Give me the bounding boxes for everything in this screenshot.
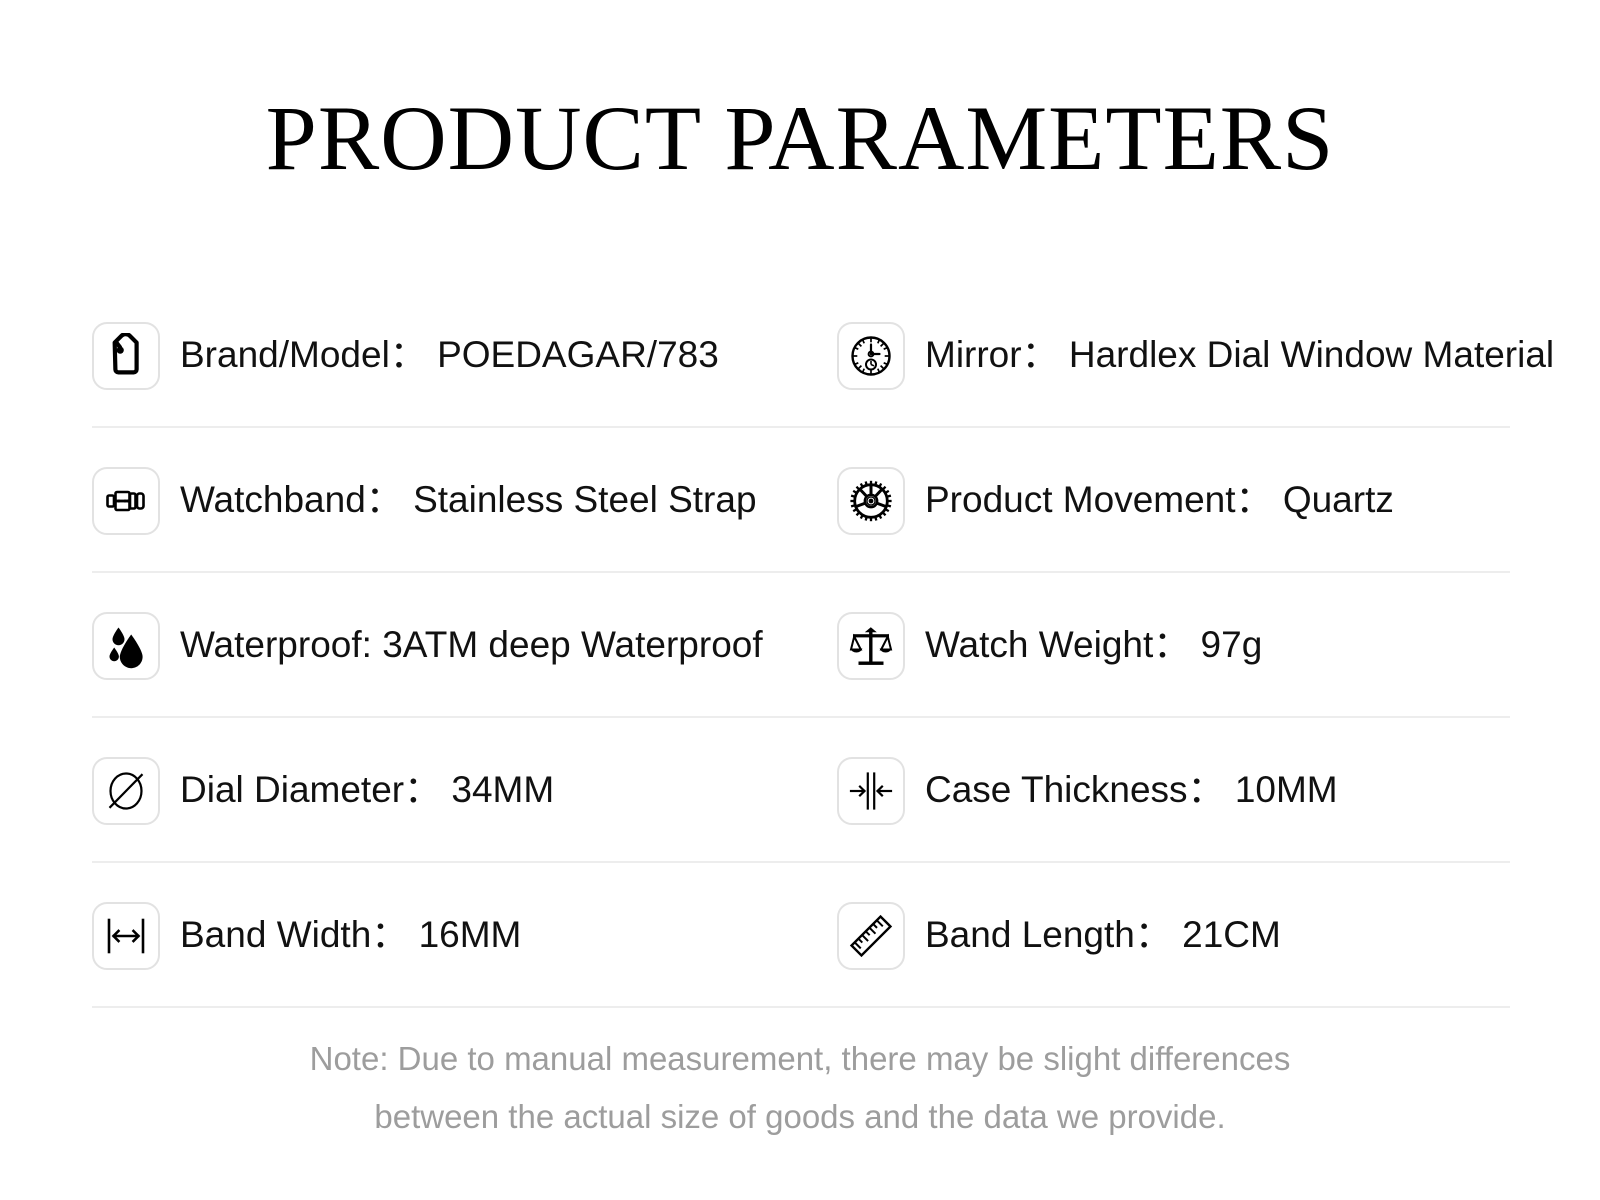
width-arrow-icon (92, 902, 160, 970)
spec-item: Case Thickness： 10MM (837, 718, 1510, 863)
spec-label: Watch Weight： (925, 624, 1190, 665)
spec-label: Band Length： (925, 914, 1172, 955)
spec-item: Watchband： Stainless Steel Strap (92, 428, 837, 573)
ruler-icon (837, 902, 905, 970)
page-title: PRODUCT PARAMETERS (0, 92, 1600, 184)
spec-table: Brand/Model： POEDAGAR/783 (92, 283, 1510, 1008)
spec-value: Stainless Steel Strap (413, 479, 756, 520)
spec-label: Band Width： (180, 914, 408, 955)
spec-value: POEDAGAR/783 (437, 334, 719, 375)
spec-item-text: Watchband： Stainless Steel Strap (180, 480, 757, 521)
clock-dial-icon (837, 322, 905, 390)
spec-item: Product Movement： Quartz (837, 428, 1510, 573)
spec-label: Dial Diameter： (180, 769, 441, 810)
table-row: Brand/Model： POEDAGAR/783 (92, 283, 1510, 428)
spec-label: Brand/Model： (180, 334, 427, 375)
spec-value: 97g (1201, 624, 1263, 665)
spec-item: Band Width： 16MM (92, 863, 837, 1008)
spec-item: Waterproof: 3ATM deep Waterproof (92, 573, 837, 718)
spec-label: Case Thickness： (925, 769, 1225, 810)
spec-item-text: Dial Diameter： 34MM (180, 770, 554, 811)
price-tag-icon (92, 322, 160, 390)
spec-value: Hardlex Dial Window Material (1069, 334, 1554, 375)
spec-label: Mirror： (925, 334, 1059, 375)
spec-label: Product Movement： (925, 479, 1273, 520)
note-line-1: Note: Due to manual measurement, there m… (0, 1030, 1600, 1088)
spec-item-text: Product Movement： Quartz (925, 480, 1394, 521)
spec-label: Waterproof: (180, 624, 372, 665)
spec-value: Quartz (1283, 479, 1394, 520)
spec-value: 21CM (1182, 914, 1281, 955)
spec-label: Watchband： (180, 479, 403, 520)
spec-item-text: Waterproof: 3ATM deep Waterproof (180, 625, 763, 666)
spec-value: 16MM (419, 914, 522, 955)
spec-item-text: Band Length： 21CM (925, 915, 1281, 956)
spec-value: 34MM (451, 769, 554, 810)
table-row: Dial Diameter： 34MM Ca (92, 718, 1510, 863)
table-row: Waterproof: 3ATM deep Waterproof W (92, 573, 1510, 718)
balance-scale-icon (837, 612, 905, 680)
spec-item: Mirror： Hardlex Dial Window Material (837, 283, 1554, 428)
diameter-icon (92, 757, 160, 825)
measurement-note: Note: Due to manual measurement, there m… (0, 1030, 1600, 1146)
spec-item: Watch Weight： 97g (837, 573, 1510, 718)
watchband-link-icon (92, 467, 160, 535)
spec-item: Band Length： 21CM (837, 863, 1510, 1008)
water-drop-icon (92, 612, 160, 680)
spec-value: 3ATM deep Waterproof (382, 624, 762, 665)
thickness-arrows-icon (837, 757, 905, 825)
spec-item-text: Brand/Model： POEDAGAR/783 (180, 335, 719, 376)
spec-item-text: Case Thickness： 10MM (925, 770, 1338, 811)
table-row: Band Width： 16MM (92, 863, 1510, 1008)
gear-movement-icon (837, 467, 905, 535)
spec-item-text: Mirror： Hardlex Dial Window Material (925, 335, 1554, 376)
spec-item-text: Watch Weight： 97g (925, 625, 1262, 666)
product-parameters-page: PRODUCT PARAMETERS Brand/Model： POEDAGAR… (0, 0, 1600, 1200)
note-line-2: between the actual size of goods and the… (0, 1088, 1600, 1146)
spec-item: Brand/Model： POEDAGAR/783 (92, 283, 837, 428)
spec-item: Dial Diameter： 34MM (92, 718, 837, 863)
table-row: Watchband： Stainless Steel Strap (92, 428, 1510, 573)
spec-value: 10MM (1235, 769, 1338, 810)
spec-item-text: Band Width： 16MM (180, 915, 521, 956)
